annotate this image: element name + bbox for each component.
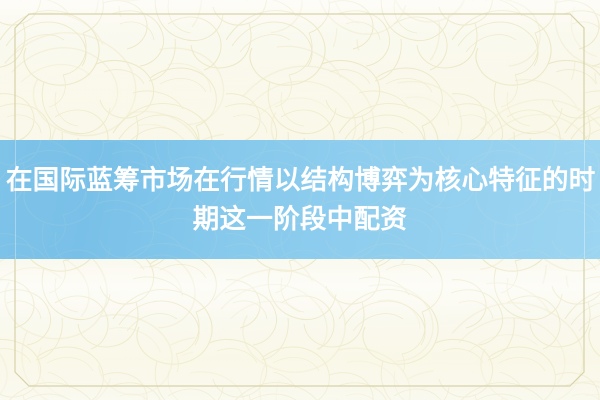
banner-title-line-2: 期这一阶段中配资 — [6, 200, 594, 239]
banner-title: 在国际蓝筹市场在行情以结构博弈为核心特征的时 期这一阶段中配资 — [0, 161, 600, 239]
banner-title-line-1: 在国际蓝筹市场在行情以结构博弈为核心特征的时 — [6, 161, 594, 200]
blue-title-band: 在国际蓝筹市场在行情以结构博弈为核心特征的时 期这一阶段中配资 — [0, 140, 600, 259]
banner-canvas: 在国际蓝筹市场在行情以结构博弈为核心特征的时 期这一阶段中配资 — [0, 0, 600, 400]
